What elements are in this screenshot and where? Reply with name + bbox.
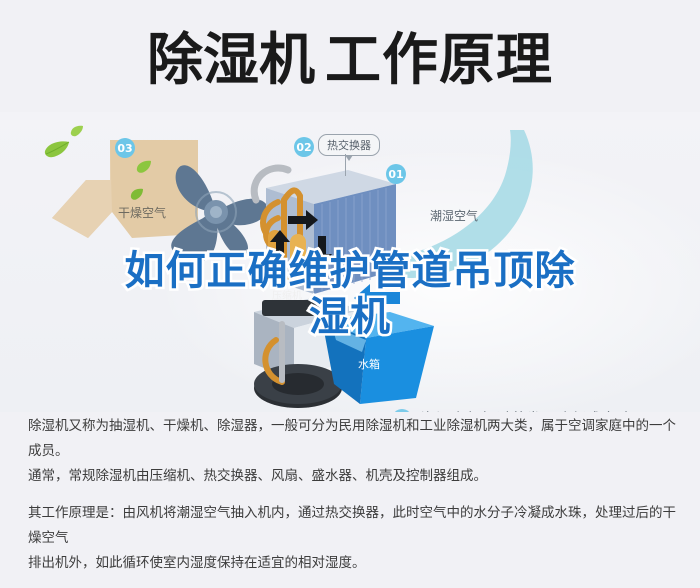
paragraph-2: 其工作原理是：由风机将潮湿空气抽入机内，通过热交换器，此时空气中的水分子冷凝成水… — [28, 501, 676, 576]
page-header: 除湿机工作原理 — [0, 22, 700, 100]
legend-text-02: 潮湿空气经过蒸发器冷凝成水珠 — [421, 408, 631, 412]
body-text: 除湿机又称为抽湿机、干燥机、除湿器，一般可分为民用除湿机和工业除湿机两大类，属于… — [28, 414, 676, 588]
leaf-icon — [44, 140, 70, 158]
page-root: 除湿机工作原理 — [0, 0, 700, 566]
page-title-part1: 除湿机 — [147, 28, 315, 93]
paragraph-1: 除湿机又称为抽湿机、干燥机、除湿器，一般可分为民用除湿机和工业除湿机两大类，属于… — [28, 414, 676, 489]
paragraph-1-line-2: 通常，常规除湿机由压缩机、热交换器、风扇、盛水器、机壳及控制器组成。 — [28, 464, 676, 489]
heat-exchanger-callout: 热交换器 — [318, 134, 380, 156]
legend-badge-02: 02 — [392, 409, 412, 413]
humid-air-label: 潮湿空气 — [430, 207, 478, 224]
water-tank-label: 水箱 — [358, 356, 380, 372]
diagram-legend: 02 潮湿空气经过蒸发器冷凝成水珠 03 从上部出风口吹出清新干爽空气 — [392, 408, 692, 412]
diagram-badge-01: 01 — [386, 164, 406, 184]
paragraph-1-line-1: 除湿机又称为抽湿机、干燥机、除湿器，一般可分为民用除湿机和工业除湿机两大类，属于… — [28, 414, 676, 464]
leaf-icon — [70, 125, 84, 137]
page-title: 除湿机工作原理 — [147, 33, 553, 89]
compressor-label: 压缩机 — [272, 287, 302, 302]
dehumidifier-diagram: 热交换器 干燥空气 潮湿空气 水箱 压缩机 03 02 01 02 潮湿空气经过… — [0, 112, 700, 412]
paragraph-2-line-2: 排出机外，如此循环使室内湿度保持在适宜的相对湿度。 — [28, 551, 676, 576]
paragraph-2-line-1: 其工作原理是：由风机将潮湿空气抽入机内，通过热交换器，此时空气中的水分子冷凝成水… — [28, 501, 676, 551]
diagram-badge-03: 03 — [115, 138, 135, 158]
leaf-icon — [130, 188, 144, 201]
legend-item: 02 潮湿空气经过蒸发器冷凝成水珠 — [392, 408, 692, 412]
page-title-part2: 工作原理 — [325, 28, 553, 93]
diagram-badge-02: 02 — [294, 137, 314, 157]
callout-stem — [345, 154, 346, 176]
dry-air-label: 干燥空气 — [118, 204, 166, 221]
